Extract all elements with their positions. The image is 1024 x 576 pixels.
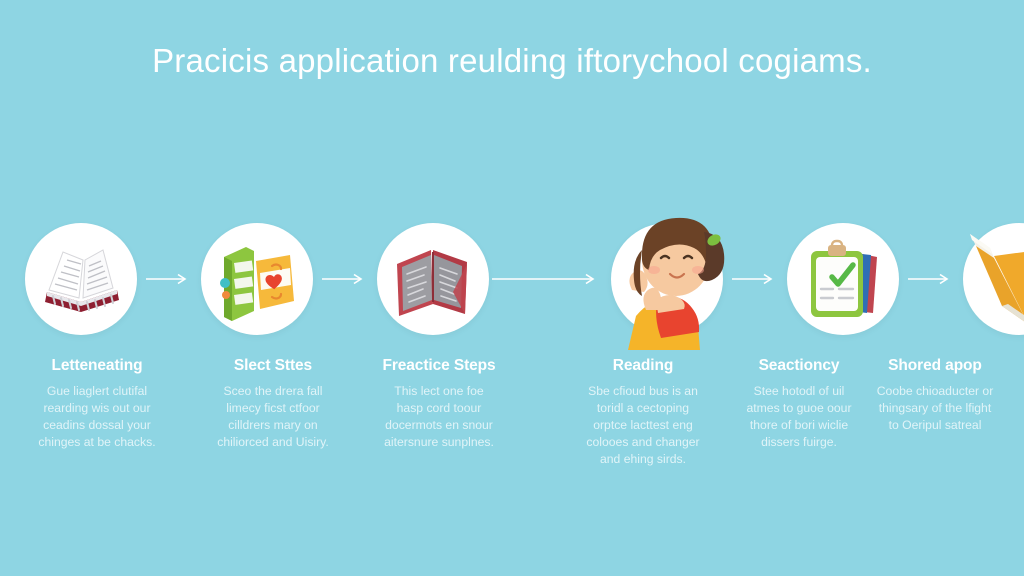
- arrow-right-icon-1: [146, 273, 192, 285]
- step-text-6: Shored apop Coobe chioaducter or thingsa…: [852, 356, 1018, 434]
- step-body-line: Sbe cfioud bus is an: [560, 383, 726, 400]
- step-body-line: This lect one foe: [356, 383, 522, 400]
- clipboard-checklist-icon: [782, 196, 902, 364]
- open-spiral-notebook-icon: [20, 196, 140, 364]
- step-node-5[interactable]: [782, 196, 902, 364]
- step-body-line: toridl a cectoping: [560, 400, 726, 417]
- step-body-6: Coobe chioaducter or thingsary of the lf…: [852, 383, 1018, 434]
- process-text-row: Letteneating Gue liaglert clutifal reard…: [14, 356, 1010, 486]
- step-body-line: docermots en snour: [356, 417, 522, 434]
- step-node-1[interactable]: [20, 196, 140, 364]
- step-body-line: thingsary of the lfight: [852, 400, 1018, 417]
- step-body-line: and ehing sirds.: [560, 451, 726, 468]
- page-title: Pracicis application reulding iftorychoo…: [0, 42, 1024, 80]
- step-body-line: colooes and changer: [560, 434, 726, 451]
- step-body-line: rearding wis out our: [14, 400, 180, 417]
- step-text-2: Slect Sttes Sceo the drera fall limecy f…: [190, 356, 356, 451]
- step-body-line: chiliorced and Uisiry.: [190, 434, 356, 451]
- step-body-line: aitersnure sunplnes.: [356, 434, 522, 451]
- step-text-4: Reading Sbe cfioud bus is an toridl a ce…: [560, 356, 726, 468]
- arrow-right-icon-2: [322, 273, 368, 285]
- step-node-3[interactable]: [372, 196, 492, 364]
- step-body-line: orptce lacttest eng: [560, 417, 726, 434]
- open-book-icon: [372, 196, 492, 364]
- step-body-line: chinges at be chacks.: [14, 434, 180, 451]
- step-body-line: Gue liaglert clutifal: [14, 383, 180, 400]
- infographic-canvas: Pracicis application reulding iftorychoo…: [0, 0, 1024, 576]
- step-heading-3: Freactice Steps: [356, 356, 522, 375]
- step-body-line: ceadins dossal your: [14, 417, 180, 434]
- step-body-line: dissers fuirge.: [716, 434, 882, 451]
- step-body-line: limecy ficst ctfoor: [190, 400, 356, 417]
- arrow-right-icon-4: [732, 273, 778, 285]
- yellow-standing-book-icon: [958, 196, 1024, 364]
- step-text-1: Letteneating Gue liaglert clutifal reard…: [14, 356, 180, 451]
- step-body-line: Sceo the drera fall: [190, 383, 356, 400]
- step-heading-2: Slect Sttes: [190, 356, 356, 375]
- step-text-3: Freactice Steps This lect one foe hasp c…: [356, 356, 522, 451]
- step-body-line: Coobe chioaducter or: [852, 383, 1018, 400]
- step-body-line: to Oeripul satreal: [852, 417, 1018, 434]
- step-node-6[interactable]: [958, 196, 1024, 364]
- step-heading-1: Letteneating: [14, 356, 180, 375]
- step-body-3: This lect one foe hasp cord toour docerm…: [356, 383, 522, 451]
- step-node-4[interactable]: [606, 196, 726, 364]
- book-stack-with-heart-card-icon: [196, 196, 316, 364]
- step-heading-6: Shored apop: [852, 356, 1018, 375]
- step-body-4: Sbe cfioud bus is an toridl a cectoping …: [560, 383, 726, 468]
- step-body-1: Gue liaglert clutifal rearding wis out o…: [14, 383, 180, 451]
- girl-reading-character-icon: [606, 196, 726, 364]
- step-node-2[interactable]: [196, 196, 316, 364]
- step-body-2: Sceo the drera fall limecy ficst ctfoor …: [190, 383, 356, 451]
- arrow-right-icon-5: [908, 273, 954, 285]
- step-body-line: hasp cord toour: [356, 400, 522, 417]
- arrow-right-icon-3: [492, 273, 600, 285]
- step-body-line: cilldrers mary on: [190, 417, 356, 434]
- step-heading-4: Reading: [560, 356, 726, 375]
- process-steps-row: [20, 196, 1004, 364]
